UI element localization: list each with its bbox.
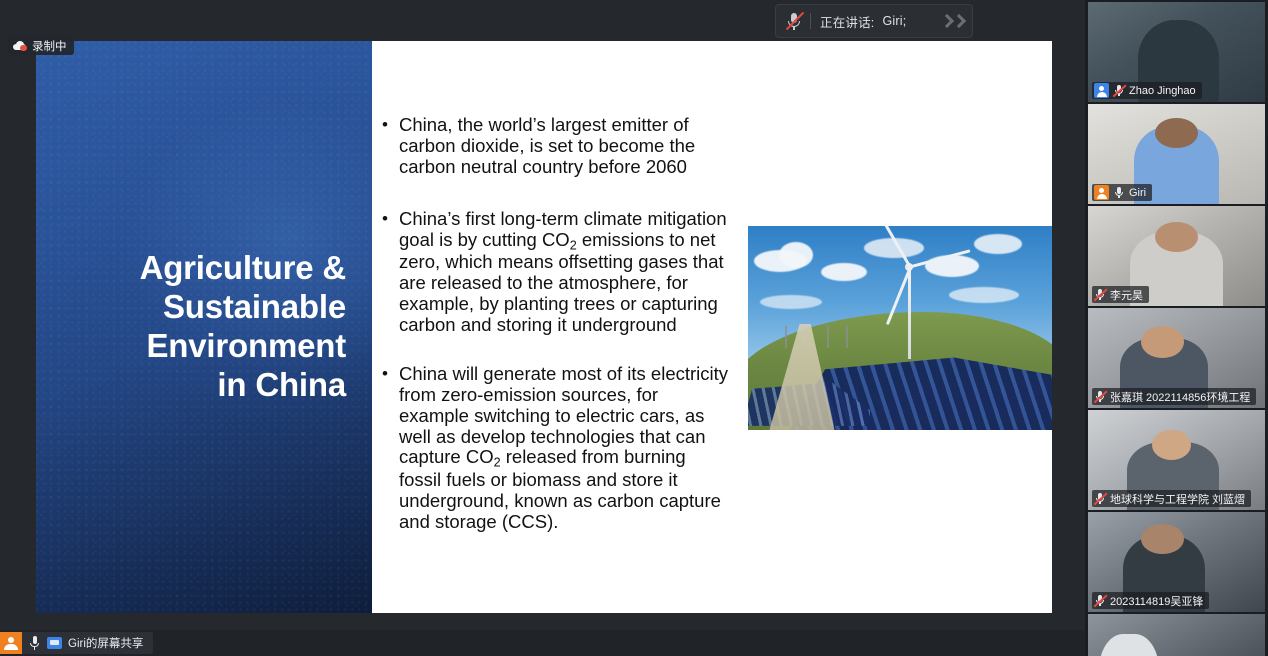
participant-nameplate: 张嘉琪 2022114856环境工程 [1092,388,1256,405]
double-chevron-icon[interactable] [942,16,964,26]
mic-muted-icon[interactable] [1113,84,1125,98]
participant-nameplate: 李元昊 [1092,286,1149,303]
mic-icon[interactable] [1113,186,1125,200]
recording-badge: 录制中 [8,36,74,55]
slide-title-panel: Agriculture &SustainableEnvironmentin Ch… [36,41,372,613]
participant-nameplate: Giri [1092,184,1152,201]
zoom-meeting-window: 正在讲话: Giri; 录制中 Agriculture &Sustainable… [0,0,1268,656]
slide-content-panel: •China, the world’s largest emitter of c… [372,41,1052,613]
mic-icon[interactable] [28,635,41,651]
slide-title-line: Agriculture & [140,249,346,286]
bullet-mitigation: •China’s first long-term climate mitigat… [382,209,730,336]
bottom-status-bar: Giri的屏幕共享 [0,630,1085,656]
participant-nameplate: Zhao Jinghao [1092,82,1202,99]
speaking-indicator-toolbar[interactable]: 正在讲话: Giri; [775,4,973,38]
participant-tile[interactable]: 地球科学与工程学院 刘蓝熠 [1088,410,1265,510]
participant-name: Giri [1129,187,1146,199]
recording-label: 录制中 [32,38,67,54]
screen-share-icon[interactable] [47,637,62,649]
participant-rail[interactable]: Zhao JinghaoGiri李元昊张嘉琪 2022114856环境工程地球科… [1085,0,1268,656]
participant-nameplate: 地球科学与工程学院 刘蓝熠 [1092,490,1251,507]
slide-bullet-list: •China, the world’s largest emitter of c… [382,115,730,533]
participant-tile[interactable]: 李元昊 [1088,206,1265,306]
bullet-marker: • [382,209,399,336]
bullet-marker: • [382,364,399,533]
cloud-record-icon [13,40,28,51]
toolbar-divider [810,13,811,29]
bullet-text: China, the world’s largest emitter of ca… [399,115,730,178]
participant-avatar-icon [1094,83,1109,98]
participant-name: 地球科学与工程学院 刘蓝熠 [1110,491,1245,507]
participant-name: 2023114819吴亚锋 [1110,593,1203,609]
speaking-name: Giri; [882,14,906,28]
bullet-electricity: •China will generate most of its electri… [382,364,730,533]
participant-avatar-icon [0,632,22,654]
participant-name: 李元昊 [1110,287,1143,303]
mic-muted-icon[interactable] [1094,390,1106,404]
participant-name: 张嘉琪 2022114856环境工程 [1110,389,1250,405]
speaking-label: 正在讲话: [820,12,874,31]
bullet-text: China will generate most of its electric… [399,364,730,533]
slide-title-line: Environment [147,327,347,364]
bullet-text: China’s first long-term climate mitigati… [399,209,730,336]
solar-farm-wind-turbine-photo [748,226,1052,430]
participant-tile[interactable]: 张嘉琪 2022114856环境工程 [1088,308,1265,408]
mic-muted-icon[interactable] [1094,492,1106,506]
participant-name: Zhao Jinghao [1129,85,1196,97]
bullet-emitter: •China, the world’s largest emitter of c… [382,115,730,178]
screen-share-chip[interactable]: Giri的屏幕共享 [0,632,153,654]
mic-muted-icon[interactable] [784,11,804,31]
participant-tile[interactable]: Giri [1088,104,1265,204]
mic-muted-icon[interactable] [1094,288,1106,302]
participant-tile[interactable]: Zhao Jinghao [1088,2,1265,102]
participant-tile[interactable]: 2023114819吴亚锋 [1088,512,1265,612]
participant-nameplate: 2023114819吴亚锋 [1092,592,1209,609]
bullet-marker: • [382,115,399,178]
participant-video [1088,614,1265,656]
slide-title-line: Sustainable [163,288,346,325]
shared-screen-stage: 正在讲话: Giri; 录制中 Agriculture &Sustainable… [0,0,1085,656]
participant-avatar-icon [1094,185,1109,200]
screen-share-label: Giri的屏幕共享 [68,635,143,651]
participant-tile[interactable] [1088,614,1265,656]
presentation-slide: Agriculture &SustainableEnvironmentin Ch… [36,41,1052,613]
slide-title: Agriculture &SustainableEnvironmentin Ch… [140,249,372,405]
slide-title-line: in China [217,366,346,403]
mic-muted-icon[interactable] [1094,594,1106,608]
